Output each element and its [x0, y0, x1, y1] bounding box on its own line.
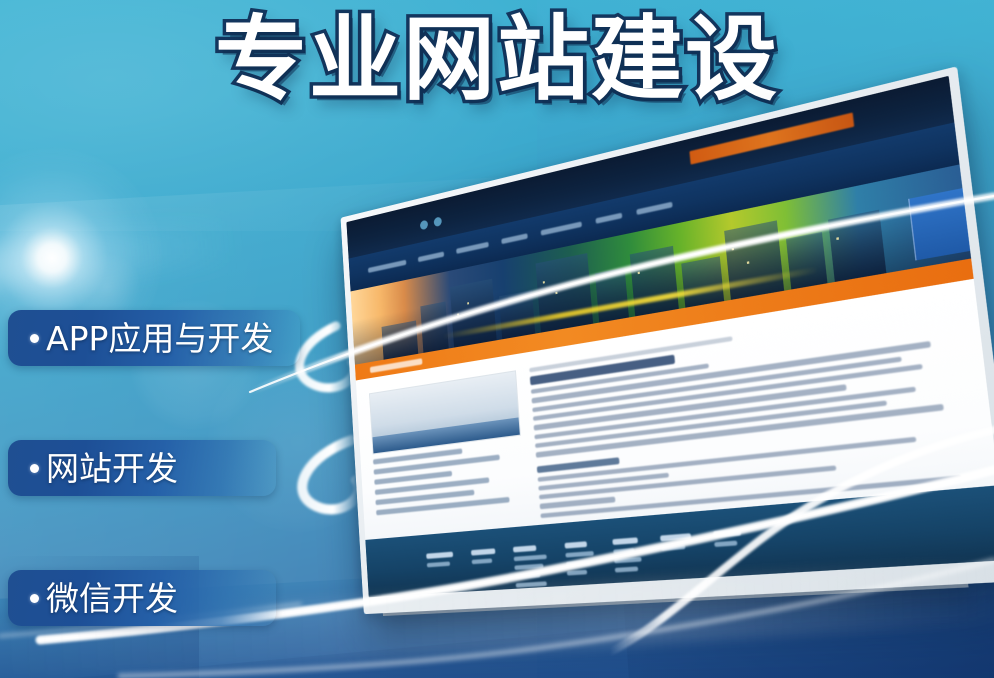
feature-label: 网站开发	[46, 452, 178, 485]
footer-column	[426, 551, 455, 594]
monitor-display	[352, 212, 952, 642]
footer-column	[513, 544, 549, 589]
bullet-icon	[30, 464, 39, 473]
footer-column	[470, 548, 497, 591]
footer-column	[612, 537, 643, 583]
feature-pill-wechat[interactable]: 微信开发	[8, 570, 276, 626]
footer-column	[564, 540, 596, 585]
banner-stage: 专业网站建设	[0, 0, 994, 678]
footer-column	[713, 529, 745, 577]
feature-label: APP应用与开发	[46, 322, 273, 355]
feature-pill-app[interactable]: APP应用与开发	[8, 310, 300, 366]
feature-pill-website[interactable]: 网站开发	[8, 440, 276, 496]
hero-side-card	[908, 189, 970, 261]
footer-column	[660, 533, 695, 580]
topbar-social-icons	[420, 216, 442, 230]
bullet-icon	[30, 594, 39, 603]
website-sidebar	[369, 370, 527, 533]
sidebar-photo	[369, 370, 521, 454]
bullet-icon	[30, 334, 39, 343]
photo-desk	[372, 418, 519, 453]
feature-label: 微信开发	[46, 582, 178, 615]
